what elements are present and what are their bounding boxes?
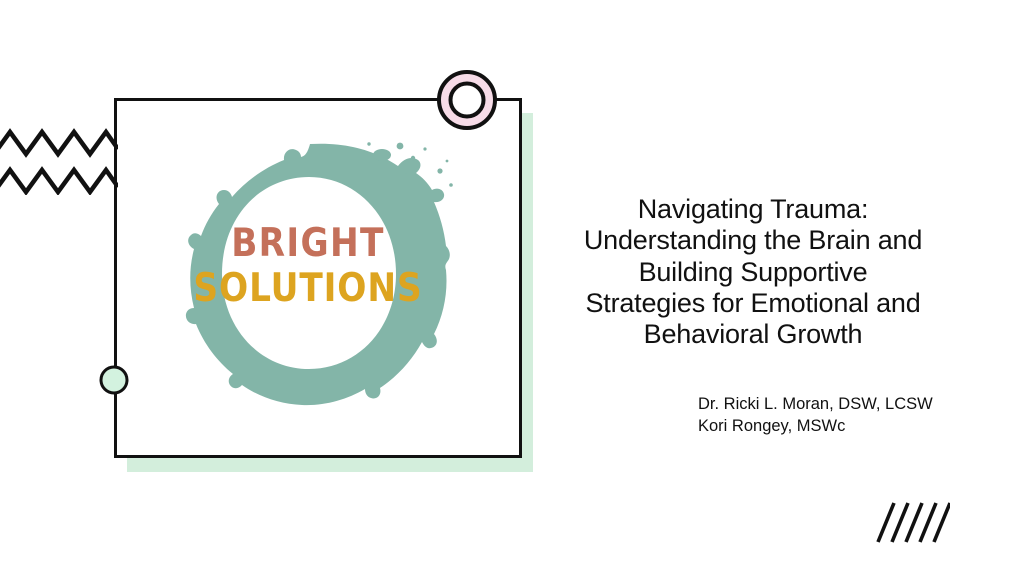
pink-ring-icon <box>433 66 501 134</box>
diagonal-slashes-icon <box>874 498 950 546</box>
zigzag-lines-icon <box>0 110 118 195</box>
mint-dot-icon <box>98 364 130 396</box>
presenter-name-secondary: Kori Rongey, MSWc <box>698 416 948 438</box>
logo-line-bright: BRIGHT <box>178 224 438 263</box>
logo-line-solutions: SOLUTIONS <box>178 269 438 308</box>
slide-title: Navigating Trauma: Understanding the Bra… <box>576 194 930 351</box>
logo-wordmark: BRIGHT SOLUTIONS <box>160 224 456 308</box>
presenter-name-primary: Dr. Ricki L. Moran, DSW, LCSW <box>698 394 948 416</box>
presentation-slide: BRIGHT SOLUTIONS Navigating Trauma: Unde… <box>0 0 1024 576</box>
brand-logo: BRIGHT SOLUTIONS <box>160 128 456 424</box>
presenter-list: Dr. Ricki L. Moran, DSW, LCSW Kori Ronge… <box>698 394 948 438</box>
